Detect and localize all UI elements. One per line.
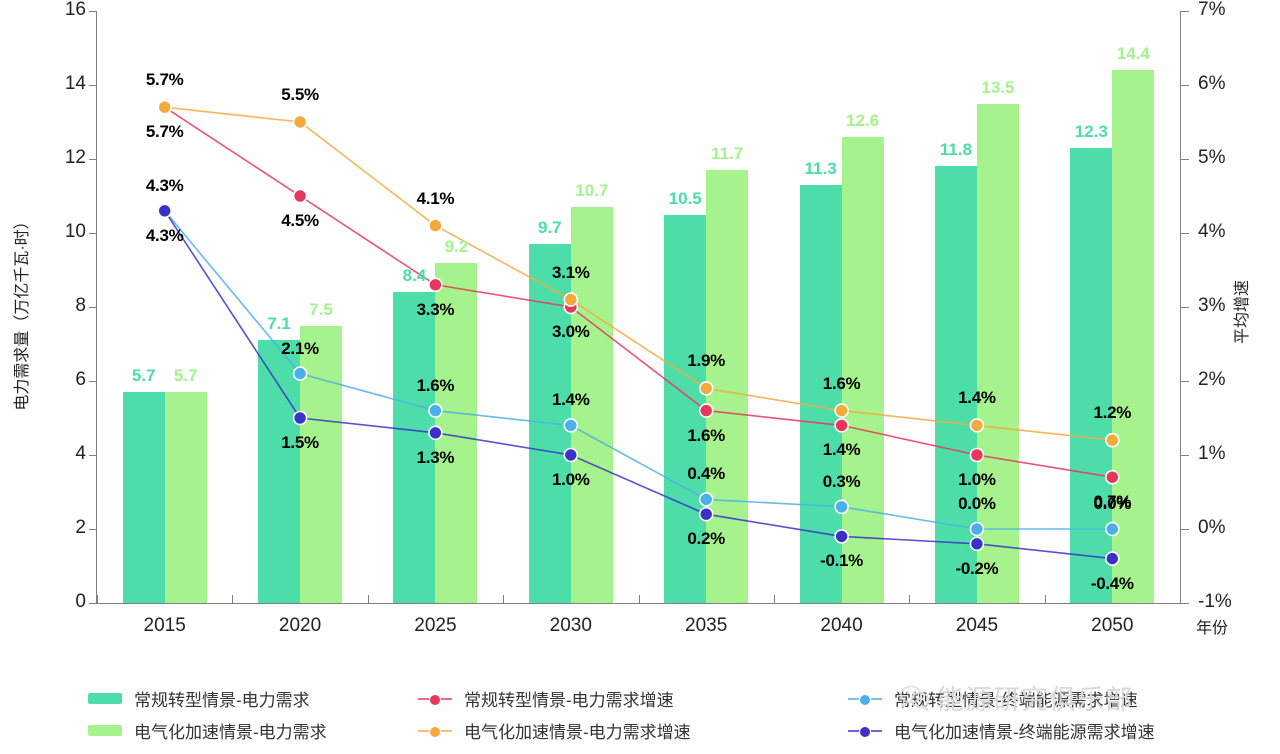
bar-value-label: 7.5 xyxy=(291,300,351,320)
bar-value-label: 12.6 xyxy=(833,111,893,131)
data-point-marker xyxy=(970,449,983,462)
bar-value-label: 10.5 xyxy=(655,189,715,209)
line-value-label: -0.2% xyxy=(937,559,1017,579)
y-axis-left-tick-mark xyxy=(89,85,97,86)
line-value-label: 3.0% xyxy=(531,322,611,342)
y-axis-left-tick-mark xyxy=(89,11,97,12)
line-value-label: 1.2% xyxy=(1072,403,1152,423)
legend-bar-swatch xyxy=(88,725,122,736)
legend-item[interactable]: 常规转型情景-电力需求增速 xyxy=(418,686,674,711)
line-value-label: 1.6% xyxy=(395,376,475,396)
line-value-label: 1.4% xyxy=(531,390,611,410)
legend-item-label: 电气化加速情景-电力需求 xyxy=(134,718,327,743)
y-axis-right-tick-mark xyxy=(1181,11,1189,12)
line-value-label: 3.1% xyxy=(531,263,611,283)
y-axis-right-tick-label: 2% xyxy=(1198,369,1252,391)
y-axis-left-tick-mark xyxy=(89,233,97,234)
data-point-marker xyxy=(564,419,577,432)
legend-item-label: 常规转型情景-电力需求 xyxy=(134,686,310,711)
y-axis-right-tick-mark xyxy=(1181,603,1189,604)
line-value-label: 4.5% xyxy=(260,211,340,231)
y-axis-left-tick-mark xyxy=(89,603,97,604)
x-axis-tick-label: 2030 xyxy=(526,615,616,637)
y-axis-right-tick-label: 4% xyxy=(1198,221,1252,243)
bar-value-label: 5.7 xyxy=(156,366,216,386)
data-point-marker xyxy=(1106,552,1119,565)
data-point-marker xyxy=(835,404,848,417)
line-value-label: 5.5% xyxy=(260,85,340,105)
legend-line-marker xyxy=(859,694,871,706)
x-axis-tick-label: 2040 xyxy=(797,615,887,637)
data-point-marker xyxy=(294,116,307,129)
legend-item[interactable]: 常规转型情景-电力需求 xyxy=(88,686,310,711)
chart-legend: 常规转型情景-电力需求电气化加速情景-电力需求常规转型情景-电力需求增速电气化加… xyxy=(0,686,1280,754)
line-value-label: 5.7% xyxy=(125,122,205,142)
line-value-label: 1.0% xyxy=(937,470,1017,490)
line-value-label: 3.3% xyxy=(395,300,475,320)
y-axis-right-tick-mark xyxy=(1181,307,1189,308)
x-axis-tick-label: 2035 xyxy=(661,615,751,637)
y-axis-right-tick-label: 6% xyxy=(1198,73,1252,95)
bar-value-label: 11.3 xyxy=(791,159,851,179)
line-value-label: -0.1% xyxy=(802,551,882,571)
data-point-marker xyxy=(970,523,983,536)
line-value-label: 4.3% xyxy=(125,226,205,246)
legend-item-label: 电气化加速情景-终端能源需求增速 xyxy=(894,718,1155,743)
y-axis-left-title: 电力需求量（万亿千瓦·时） xyxy=(8,197,32,427)
legend-bar-swatch xyxy=(88,693,122,704)
y-axis-left-tick-label: 2 xyxy=(42,517,86,539)
data-point-marker xyxy=(564,449,577,462)
legend-line-swatch xyxy=(848,724,882,738)
legend-item[interactable]: 常规转型情景-终端能源需求增速 xyxy=(848,686,1138,711)
legend-line-marker xyxy=(859,726,871,738)
x-axis-tick-label: 2045 xyxy=(932,615,1022,637)
line-value-label: 0.2% xyxy=(666,529,746,549)
y-axis-right-tick-mark xyxy=(1181,529,1189,530)
y-axis-right-tick-label: 1% xyxy=(1198,443,1252,465)
line-value-label: -0.4% xyxy=(1072,574,1152,594)
line-value-label: 1.4% xyxy=(802,440,882,460)
y-axis-right-tick-mark xyxy=(1181,159,1189,160)
line-value-label: 0.0% xyxy=(937,494,1017,514)
y-axis-left-tick-label: 6 xyxy=(42,369,86,391)
line-value-label: 1.6% xyxy=(802,374,882,394)
y-axis-right-tick-mark xyxy=(1181,85,1189,86)
data-point-marker xyxy=(294,190,307,203)
legend-line-swatch xyxy=(418,692,452,706)
data-point-marker xyxy=(700,404,713,417)
data-point-marker xyxy=(429,404,442,417)
y-axis-left-tick-mark xyxy=(89,159,97,160)
plot-area: 5.77.18.49.710.511.311.812.35.77.59.210.… xyxy=(97,11,1180,603)
line-value-label: 1.6% xyxy=(666,426,746,446)
line-path xyxy=(165,107,1113,477)
x-axis-tick-label: 2050 xyxy=(1067,615,1157,637)
x-axis-tick-mark xyxy=(1180,595,1181,603)
line-value-label: 5.7% xyxy=(125,70,205,90)
bar-value-label: 14.4 xyxy=(1103,44,1163,64)
bar-value-label: 8.4 xyxy=(384,266,444,286)
y-axis-left-tick-mark xyxy=(89,529,97,530)
line-value-label: 1.5% xyxy=(260,433,340,453)
data-point-marker xyxy=(970,537,983,550)
line-value-label: 4.3% xyxy=(125,176,205,196)
data-point-marker xyxy=(1106,434,1119,447)
data-point-marker xyxy=(158,204,171,217)
legend-item-label: 电气化加速情景-电力需求增速 xyxy=(464,718,691,743)
bar-value-label: 10.7 xyxy=(562,181,622,201)
legend-item[interactable]: 电气化加速情景-终端能源需求增速 xyxy=(848,718,1155,743)
line-value-label: 0.3% xyxy=(802,472,882,492)
data-point-marker xyxy=(1106,523,1119,536)
x-axis-tick-label: 2025 xyxy=(390,615,480,637)
data-point-marker xyxy=(294,367,307,380)
x-axis-tick-label: 2020 xyxy=(255,615,345,637)
y-axis-right-tick-label: 5% xyxy=(1198,147,1252,169)
bar-value-label: 12.3 xyxy=(1061,122,1121,142)
y-axis-left-tick-label: 14 xyxy=(42,73,86,95)
line-value-label: 1.9% xyxy=(666,351,746,371)
data-point-marker xyxy=(835,419,848,432)
y-axis-left-tick-label: 16 xyxy=(42,0,86,21)
y-axis-left-tick-label: 4 xyxy=(42,443,86,465)
data-point-marker xyxy=(835,530,848,543)
line-value-label: 1.3% xyxy=(395,448,475,468)
data-point-marker xyxy=(429,426,442,439)
data-point-marker xyxy=(429,219,442,232)
x-axis-tick-label: 2015 xyxy=(120,615,210,637)
x-axis-line xyxy=(96,603,1181,604)
data-point-marker xyxy=(564,293,577,306)
y-axis-left-tick-mark xyxy=(89,381,97,382)
data-point-marker xyxy=(700,382,713,395)
legend-line-swatch xyxy=(418,724,452,738)
x-axis-title: 年份 xyxy=(1196,614,1228,638)
legend-item-label: 常规转型情景-终端能源需求增速 xyxy=(894,686,1138,711)
y-axis-right-tick-mark xyxy=(1181,381,1189,382)
y-axis-right-tick-label: 3% xyxy=(1198,295,1252,317)
y-axis-right-tick-mark xyxy=(1181,233,1189,234)
line-value-label: 4.1% xyxy=(395,189,475,209)
legend-item[interactable]: 电气化加速情景-电力需求 xyxy=(88,718,327,743)
y-axis-left-tick-mark xyxy=(89,455,97,456)
line-value-label: 1.4% xyxy=(937,388,1017,408)
y-axis-left-tick-label: 0 xyxy=(42,591,86,613)
bar-value-label: 11.8 xyxy=(926,140,986,160)
line-value-label: 1.0% xyxy=(531,470,611,490)
data-point-marker xyxy=(700,493,713,506)
bar-value-label: 9.2 xyxy=(426,237,486,257)
line-value-label: 0.0% xyxy=(1072,494,1152,514)
data-point-marker xyxy=(294,412,307,425)
legend-item-label: 常规转型情景-电力需求增速 xyxy=(464,686,674,711)
line-value-label: 2.1% xyxy=(260,339,340,359)
line-value-label: 0.4% xyxy=(666,464,746,484)
bar-value-label: 13.5 xyxy=(968,78,1028,98)
legend-line-marker xyxy=(429,694,441,706)
data-point-marker xyxy=(700,508,713,521)
data-point-marker xyxy=(1106,471,1119,484)
legend-line-marker xyxy=(429,726,441,738)
y-axis-right-tick-label: 0% xyxy=(1198,517,1252,539)
y-axis-left-tick-label: 8 xyxy=(42,295,86,317)
bar-value-label: 9.7 xyxy=(520,218,580,238)
legend-line-swatch xyxy=(848,692,882,706)
y-axis-left-tick-label: 12 xyxy=(42,147,86,169)
data-point-marker xyxy=(970,419,983,432)
y-axis-right-tick-label: -1% xyxy=(1198,591,1252,613)
y-axis-right-tick-mark xyxy=(1181,455,1189,456)
data-point-marker xyxy=(835,500,848,513)
y-axis-left-tick-label: 10 xyxy=(42,221,86,243)
legend-item[interactable]: 电气化加速情景-电力需求增速 xyxy=(418,718,691,743)
y-axis-left-tick-mark xyxy=(89,307,97,308)
y-axis-right-tick-label: 7% xyxy=(1198,0,1252,21)
bar-value-label: 11.7 xyxy=(697,144,757,164)
data-point-marker xyxy=(158,101,171,114)
chart-figure: 电力需求量（万亿千瓦·时） 平均增速 年份 0246810121416 -1%0… xyxy=(0,0,1280,754)
